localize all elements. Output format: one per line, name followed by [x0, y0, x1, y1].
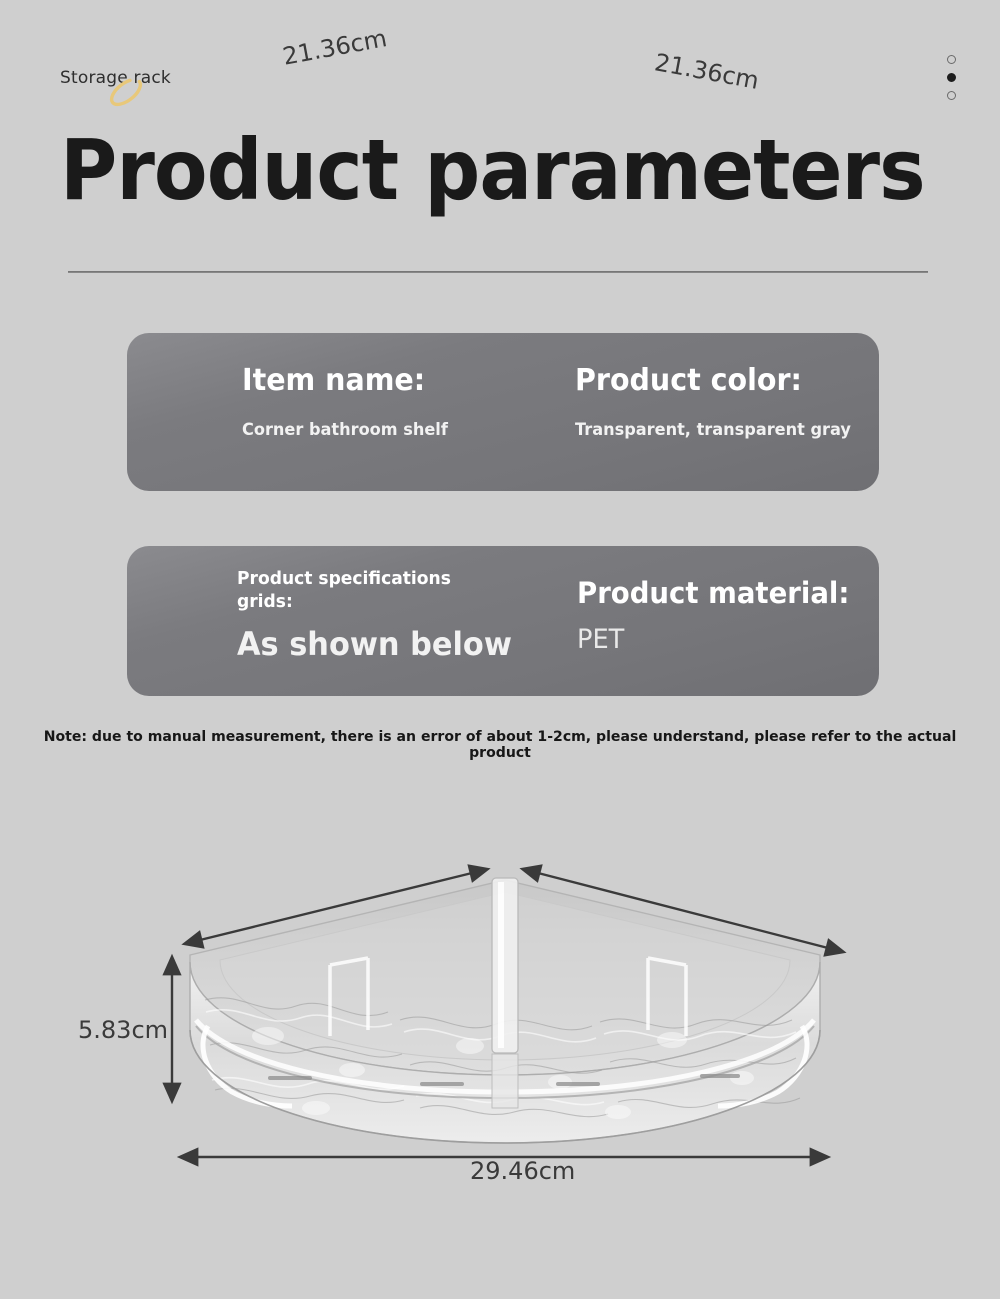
dimension-height-label: 5.83cm [78, 1016, 168, 1044]
pagination-dot-1[interactable] [947, 55, 956, 64]
title-divider [68, 271, 928, 273]
pagination-dot-3[interactable] [947, 91, 956, 100]
spec-specifications-value: As shown below [237, 625, 512, 663]
brand-logo-text: Storage rack [60, 68, 171, 88]
page-title: Product parameters [60, 128, 925, 212]
pagination-dots[interactable] [947, 55, 956, 100]
spec-specifications-label: Product specifications grids: [237, 568, 475, 613]
spec-product-color: Product color: Transparent, transparent … [575, 363, 865, 440]
pagination-dot-2-active[interactable] [947, 73, 956, 82]
dimension-top-right-label: 21.36cm [652, 48, 761, 95]
spec-material-label: Product material: [577, 576, 849, 610]
dimension-width-label: 29.46cm [470, 1157, 575, 1185]
spec-item-name: Item name: Corner bathroom shelf [242, 363, 459, 440]
spec-specifications: Product specifications grids: As shown b… [237, 568, 526, 663]
measurement-note: Note: due to manual measurement, there i… [15, 729, 985, 761]
spec-item-name-label: Item name: [242, 363, 448, 398]
spec-material-value: PET [577, 624, 849, 655]
dimension-top-left-label: 21.36cm [280, 24, 389, 71]
spec-card-1: Item name: Corner bathroom shelf Product… [127, 333, 879, 491]
spec-product-color-label: Product color: [575, 363, 851, 398]
spec-item-name-value: Corner bathroom shelf [242, 420, 448, 440]
spec-product-color-value: Transparent, transparent gray [575, 420, 851, 440]
spec-card-2: Product specifications grids: As shown b… [127, 546, 879, 696]
spec-material: Product material: PET [577, 576, 864, 655]
